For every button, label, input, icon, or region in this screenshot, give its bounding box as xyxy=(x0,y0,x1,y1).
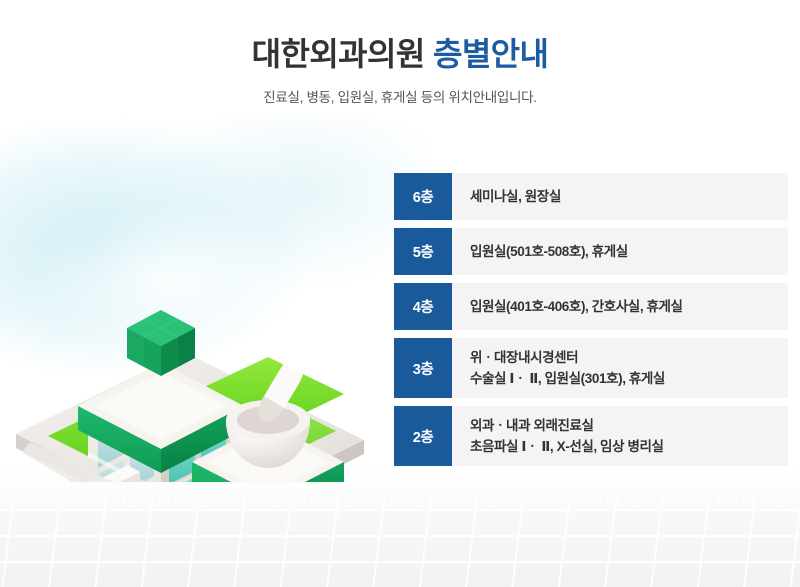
floor-description-4: 입원실(401호-406호), 간호사실, 휴게실 xyxy=(452,283,788,330)
floor-desc-line: 위ㆍ대장내시경센터 xyxy=(470,347,788,368)
floor-desc-line: 외과ㆍ내과 외래진료실 xyxy=(470,415,788,436)
floor-description-3: 위ㆍ대장내시경센터 수술실 Ⅰㆍ Ⅱ, 입원실(301호), 휴게실 xyxy=(452,338,788,398)
floor-row: 6층 세미나실, 원장실 xyxy=(394,173,788,220)
floor-badge-3: 3층 xyxy=(394,338,452,398)
floor-desc-line: 입원실(401호-406호), 간호사실, 휴게실 xyxy=(470,296,788,317)
isometric-hospital-svg xyxy=(6,152,378,482)
page-title-accent: 층별안내 xyxy=(433,36,548,72)
floor-description-2: 외과ㆍ내과 외래진료실 초음파실 Ⅰㆍ Ⅱ, X-선실, 임상 병리실 xyxy=(452,406,788,466)
floor-row: 4층 입원실(401호-406호), 간호사실, 휴게실 xyxy=(394,283,788,330)
floor-row: 5층 입원실(501호-508호), 휴게실 xyxy=(394,228,788,275)
floor-guide-list: 6층 세미나실, 원장실 5층 입원실(501호-508호), 휴게실 4층 입… xyxy=(394,173,788,466)
floor-desc-line: 입원실(501호-508호), 휴게실 xyxy=(470,241,788,262)
floor-badge-2: 2층 xyxy=(394,406,452,466)
floor-desc-line: 세미나실, 원장실 xyxy=(470,186,788,207)
hospital-illustration xyxy=(6,152,378,482)
floor-description-6: 세미나실, 원장실 xyxy=(452,173,788,220)
floor-badge-6: 6층 xyxy=(394,173,452,220)
page-subtitle: 진료실, 병동, 입원실, 휴게실 등의 위치안내입니다. xyxy=(0,86,800,106)
floor-badge-5: 5층 xyxy=(394,228,452,275)
floor-row: 3층 위ㆍ대장내시경센터 수술실 Ⅰㆍ Ⅱ, 입원실(301호), 휴게실 xyxy=(394,338,788,398)
floor-desc-line: 수술실 Ⅰㆍ Ⅱ, 입원실(301호), 휴게실 xyxy=(470,368,788,389)
floor-description-5: 입원실(501호-508호), 휴게실 xyxy=(452,228,788,275)
page-header: 대한외과의원 층별안내 진료실, 병동, 입원실, 휴게실 등의 위치안내입니다… xyxy=(0,34,800,106)
floor-desc-line: 초음파실 Ⅰㆍ Ⅱ, X-선실, 임상 병리실 xyxy=(470,436,788,457)
page-title: 대한외과의원 층별안내 xyxy=(0,34,800,74)
floor-badge-4: 4층 xyxy=(394,283,452,330)
page-title-main: 대한외과의원 xyxy=(252,36,425,72)
floor-row: 2층 외과ㆍ내과 외래진료실 초음파실 Ⅰㆍ Ⅱ, X-선실, 임상 병리실 xyxy=(394,406,788,466)
